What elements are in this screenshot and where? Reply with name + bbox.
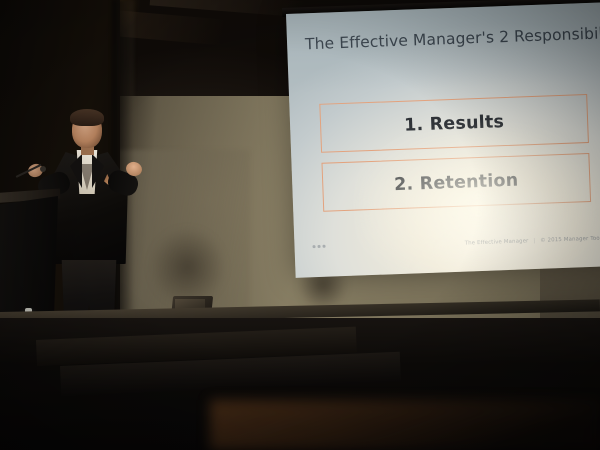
slide-footer-left: The Effective Manager xyxy=(465,238,529,246)
slide-title: The Effective Manager's 2 Responsibiliti… xyxy=(305,23,600,53)
slide-footer: The Effective Manager | © 2015 Manager T… xyxy=(465,235,600,247)
slide-box-label: 2. Retention xyxy=(394,170,519,195)
progress-dot xyxy=(323,245,326,248)
hair xyxy=(70,109,104,126)
slide-box-results: 1. Results xyxy=(319,94,589,153)
slide-progress-dots xyxy=(312,245,325,248)
microphone-icon xyxy=(40,166,46,172)
slide-box-retention: 2. Retention xyxy=(321,153,591,212)
projection-screen: The Effective Manager's 2 Responsibiliti… xyxy=(286,2,600,278)
progress-dot xyxy=(312,245,315,248)
floor-warm-reflection xyxy=(210,400,600,450)
slide-box-label: 1. Results xyxy=(404,112,505,136)
progress-dot xyxy=(318,245,321,248)
slide-footer-separator: | xyxy=(533,238,535,244)
photo-scene: The Effective Manager's 2 Responsibiliti… xyxy=(0,0,600,450)
slide-footer-copyright: © 2015 Manager Tools LLC xyxy=(540,235,600,244)
